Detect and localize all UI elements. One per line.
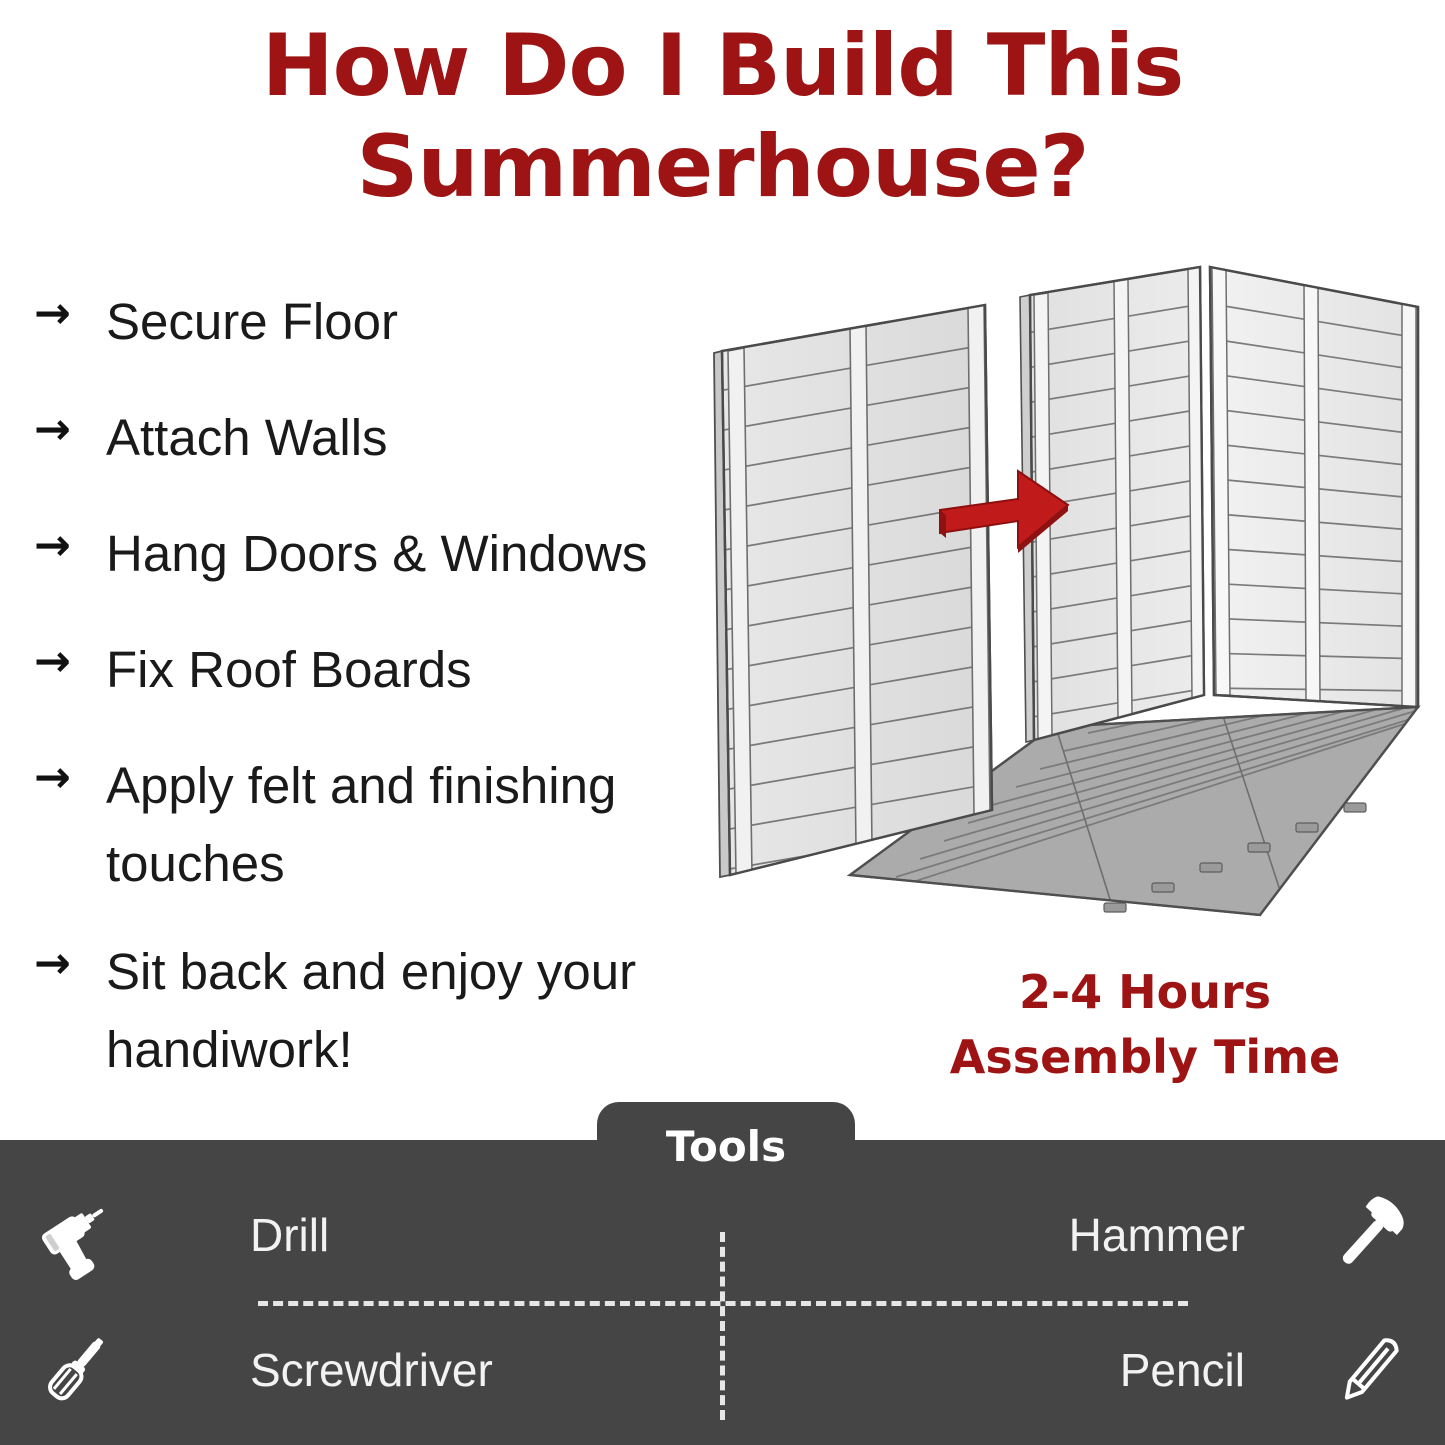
arrow-right-icon: → xyxy=(18,283,106,345)
list-item: → Fix Roof Boards xyxy=(18,631,718,709)
summerhouse-assembly-illustration xyxy=(700,255,1445,935)
tool-label-screwdriver: Screwdriver xyxy=(140,1305,710,1435)
tool-item-hammer: Hammer xyxy=(735,1170,1435,1300)
page-title: How Do I Build This Summerhouse? xyxy=(0,16,1445,219)
pencil-icon xyxy=(1305,1305,1435,1435)
arrow-right-icon: → xyxy=(18,933,106,995)
arrow-right-icon: → xyxy=(18,399,106,461)
hammer-icon xyxy=(1305,1170,1435,1300)
tool-item-screwdriver: Screwdriver xyxy=(10,1305,710,1435)
step-label: Hang Doors & Windows xyxy=(106,515,718,593)
tool-label-hammer: Hammer xyxy=(735,1170,1305,1300)
list-item: → Attach Walls xyxy=(18,399,718,477)
assembly-time-duration: 2-4 Hours xyxy=(880,960,1410,1025)
page-title-line-1: How Do I Build This xyxy=(0,16,1445,117)
screwdriver-icon xyxy=(10,1305,140,1435)
list-item: → Sit back and enjoy your handiwork! xyxy=(18,933,718,1089)
assembly-time-callout: 2-4 Hours Assembly Time xyxy=(880,960,1410,1091)
assembly-time-label: Assembly Time xyxy=(880,1025,1410,1090)
tool-item-pencil: Pencil xyxy=(735,1305,1435,1435)
tool-label-pencil: Pencil xyxy=(735,1305,1305,1435)
step-label: Attach Walls xyxy=(106,399,718,477)
step-label: Apply felt and finishing touches xyxy=(106,747,718,903)
tools-tab-label: Tools xyxy=(597,1120,855,1174)
arrow-right-icon: → xyxy=(18,515,106,577)
step-label: Secure Floor xyxy=(106,283,718,361)
list-item: → Hang Doors & Windows xyxy=(18,515,718,593)
left-wall-panel xyxy=(714,305,996,877)
step-label: Sit back and enjoy your handiwork! xyxy=(106,933,718,1089)
list-item: → Secure Floor xyxy=(18,283,718,361)
page-title-line-2: Summerhouse? xyxy=(0,117,1445,218)
build-steps-list: → Secure Floor → Attach Walls → Hang Doo… xyxy=(18,283,718,1119)
arrow-right-icon: → xyxy=(18,631,106,693)
right-wall-panel xyxy=(1206,267,1424,707)
tool-item-drill: Drill xyxy=(10,1170,710,1300)
drill-icon xyxy=(10,1170,140,1300)
tool-label-drill: Drill xyxy=(140,1170,710,1300)
arrow-right-icon: → xyxy=(18,747,106,809)
tools-divider-vertical xyxy=(720,1232,725,1420)
step-label: Fix Roof Boards xyxy=(106,631,718,709)
list-item: → Apply felt and finishing touches xyxy=(18,747,718,903)
